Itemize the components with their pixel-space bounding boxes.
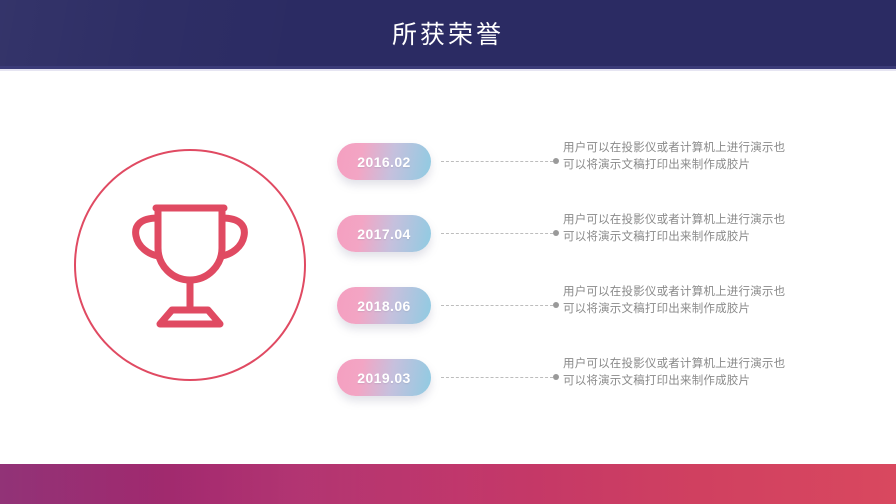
trophy-icon bbox=[74, 149, 306, 381]
connector-line bbox=[441, 377, 553, 378]
year-badge[interactable]: 2016.02 bbox=[337, 143, 431, 180]
connector-dot bbox=[553, 230, 559, 236]
description-line-1: 用户可以在投影仪或者计算机上进行演示也 bbox=[563, 212, 855, 229]
connector-dot bbox=[553, 374, 559, 380]
year-badge-label: 2018.06 bbox=[357, 298, 410, 314]
timeline-description: 用户可以在投影仪或者计算机上进行演示也 可以将演示文稿打印出来制作成胶片 bbox=[563, 284, 855, 318]
header-divider-light bbox=[0, 69, 896, 71]
description-line-1: 用户可以在投影仪或者计算机上进行演示也 bbox=[563, 284, 855, 301]
timeline-description: 用户可以在投影仪或者计算机上进行演示也 可以将演示文稿打印出来制作成胶片 bbox=[563, 140, 855, 174]
year-badge-label: 2016.02 bbox=[357, 154, 410, 170]
timeline-row: 2018.06 用户可以在投影仪或者计算机上进行演示也 可以将演示文稿打印出来制… bbox=[337, 284, 857, 330]
honors-timeline: 2016.02 用户可以在投影仪或者计算机上进行演示也 可以将演示文稿打印出来制… bbox=[337, 128, 857, 418]
timeline-row: 2017.04 用户可以在投影仪或者计算机上进行演示也 可以将演示文稿打印出来制… bbox=[337, 212, 857, 258]
connector-dot bbox=[553, 158, 559, 164]
description-line-2: 可以将演示文稿打印出来制作成胶片 bbox=[563, 157, 855, 174]
timeline-row: 2016.02 用户可以在投影仪或者计算机上进行演示也 可以将演示文稿打印出来制… bbox=[337, 140, 857, 186]
description-line-2: 可以将演示文稿打印出来制作成胶片 bbox=[563, 229, 855, 246]
connector-line bbox=[441, 161, 553, 162]
page-title: 所获荣誉 bbox=[0, 0, 896, 66]
description-line-1: 用户可以在投影仪或者计算机上进行演示也 bbox=[563, 140, 855, 157]
year-badge[interactable]: 2017.04 bbox=[337, 215, 431, 252]
year-badge[interactable]: 2018.06 bbox=[337, 287, 431, 324]
timeline-description: 用户可以在投影仪或者计算机上进行演示也 可以将演示文稿打印出来制作成胶片 bbox=[563, 212, 855, 246]
year-badge[interactable]: 2019.03 bbox=[337, 359, 431, 396]
description-line-2: 可以将演示文稿打印出来制作成胶片 bbox=[563, 373, 855, 390]
timeline-description: 用户可以在投影仪或者计算机上进行演示也 可以将演示文稿打印出来制作成胶片 bbox=[563, 356, 855, 390]
footer-sheen bbox=[0, 464, 896, 504]
description-line-2: 可以将演示文稿打印出来制作成胶片 bbox=[563, 301, 855, 318]
connector-line bbox=[441, 305, 553, 306]
year-badge-label: 2017.04 bbox=[357, 226, 410, 242]
timeline-row: 2019.03 用户可以在投影仪或者计算机上进行演示也 可以将演示文稿打印出来制… bbox=[337, 356, 857, 402]
year-badge-label: 2019.03 bbox=[357, 370, 410, 386]
slide-header: 所获荣誉 bbox=[0, 0, 896, 66]
footer-gradient-bar bbox=[0, 464, 896, 504]
description-line-1: 用户可以在投影仪或者计算机上进行演示也 bbox=[563, 356, 855, 373]
connector-line bbox=[441, 233, 553, 234]
connector-dot bbox=[553, 302, 559, 308]
